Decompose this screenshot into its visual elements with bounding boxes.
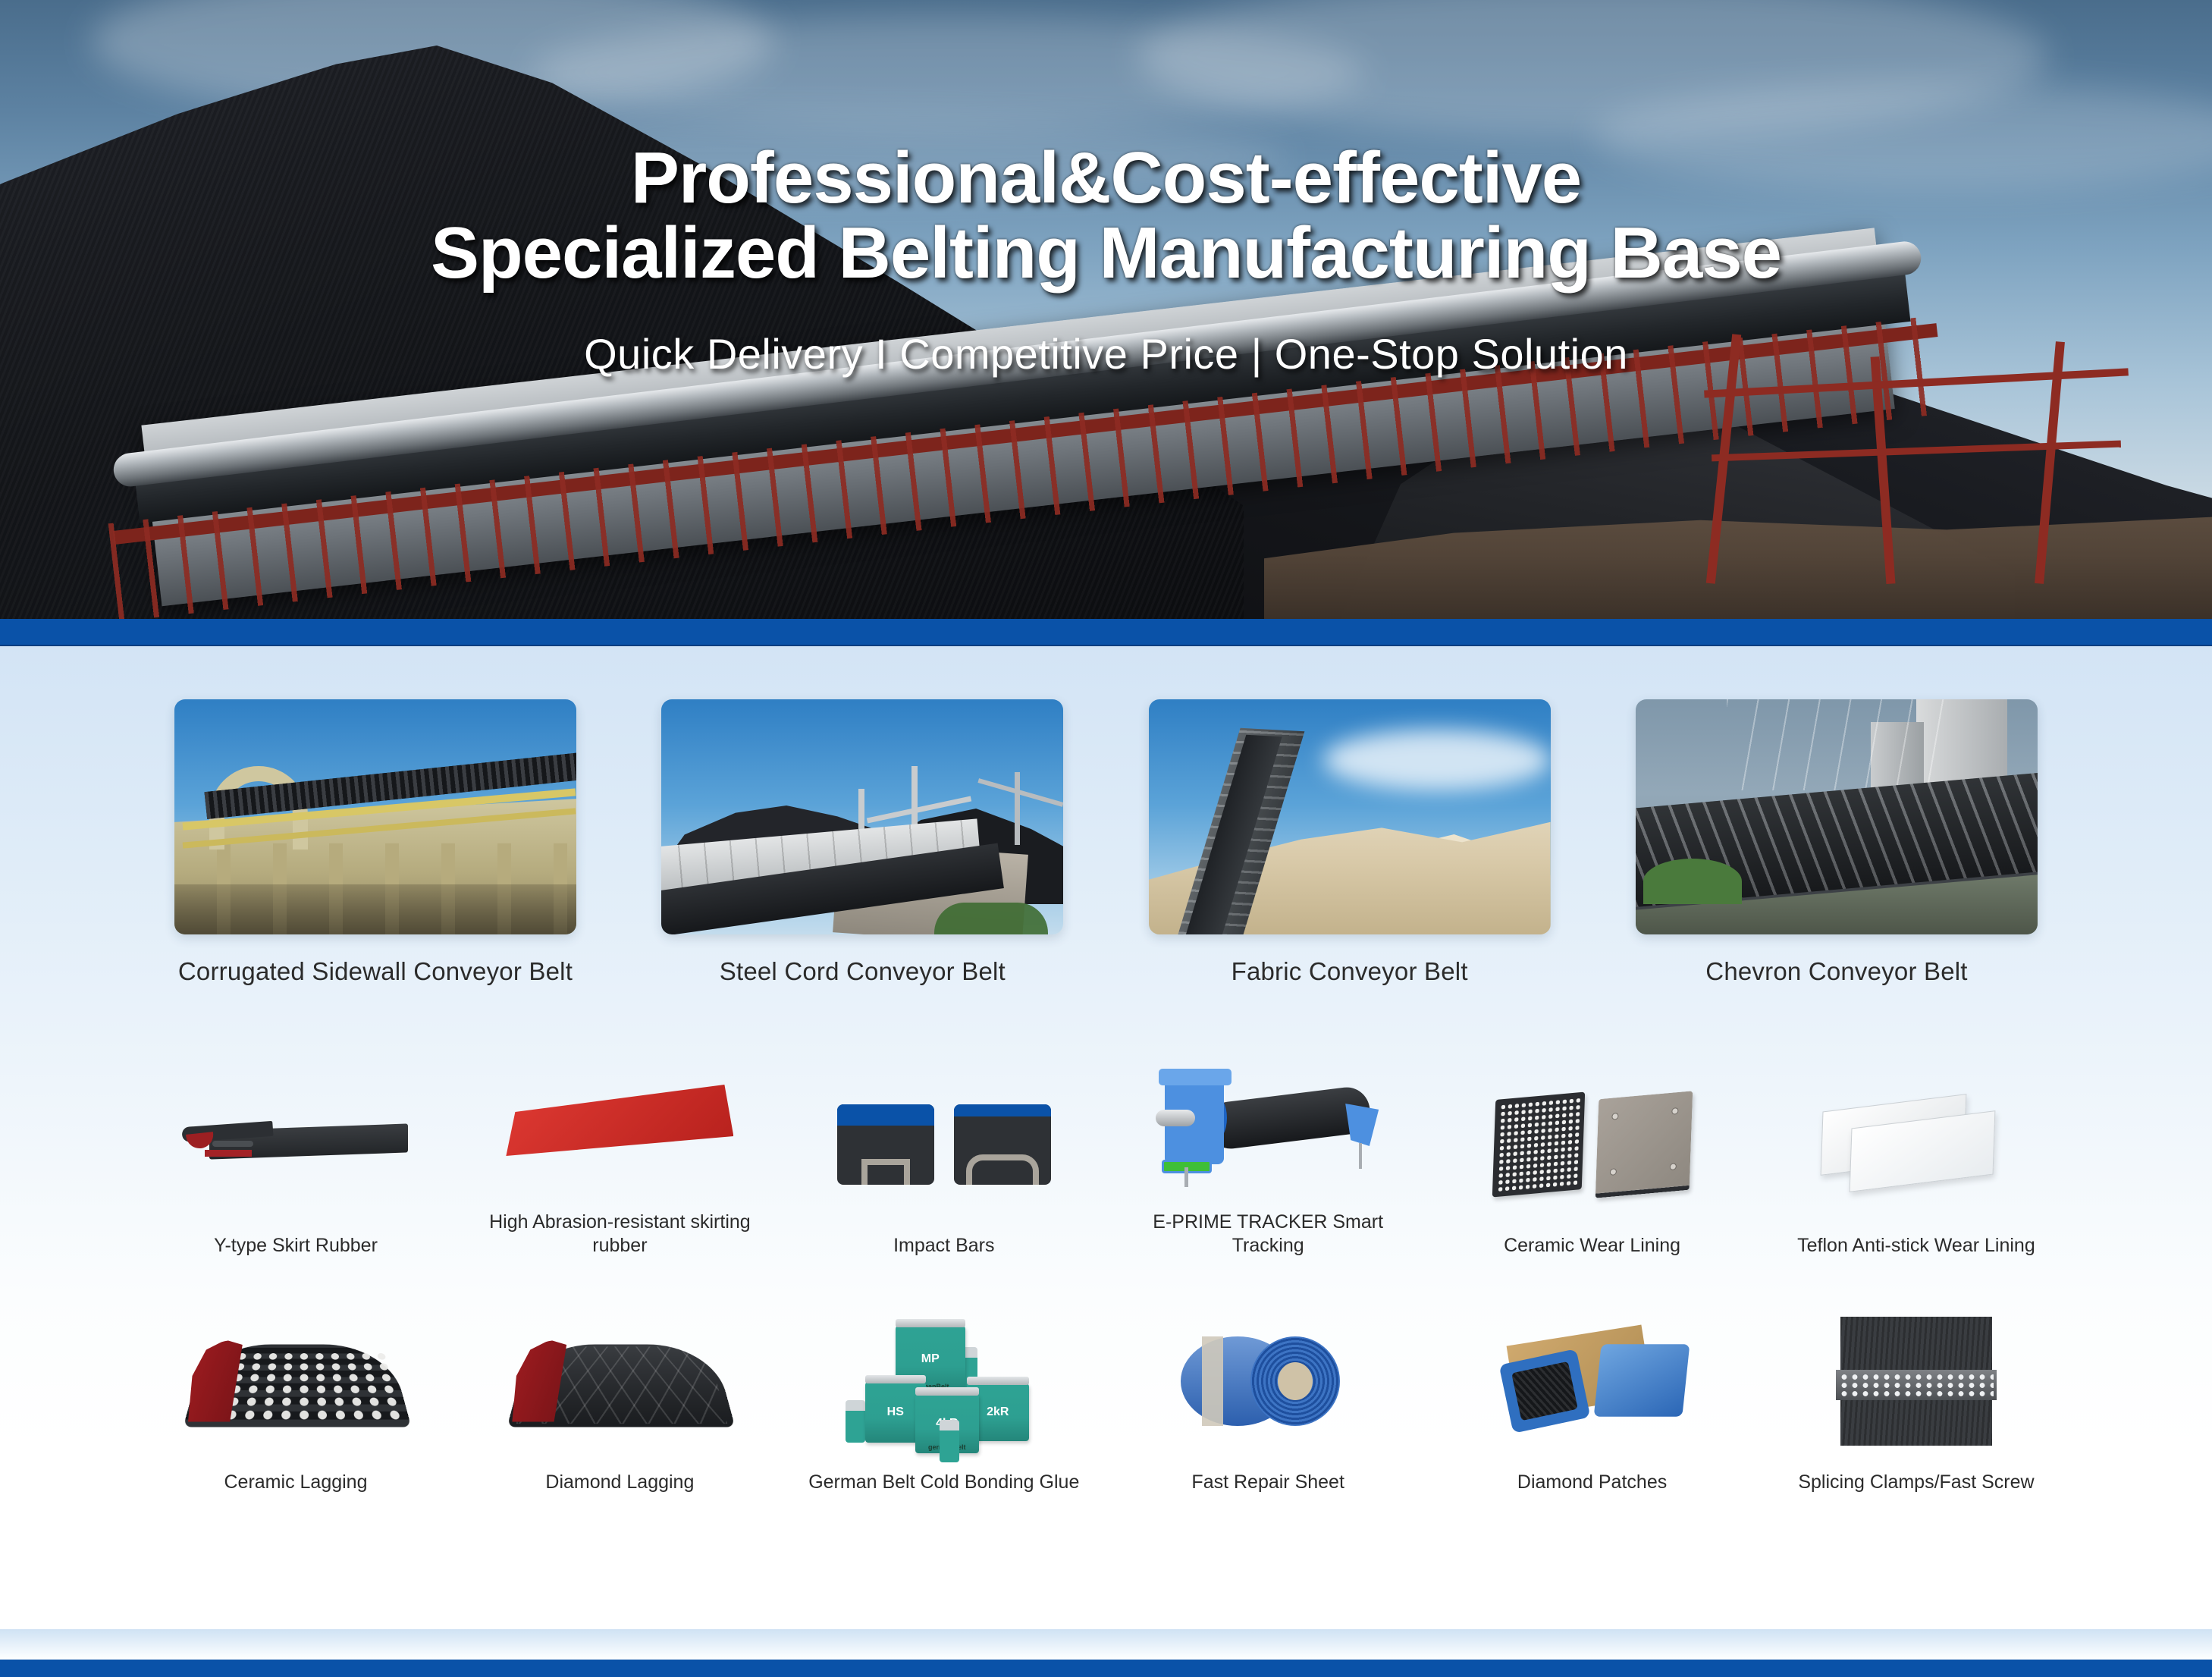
product-card[interactable]: Impact Bars <box>800 1069 1088 1258</box>
product-label: Chevron Conveyor Belt <box>1636 957 2038 986</box>
product-card[interactable]: Teflon Anti-stick Wear Lining <box>1772 1069 2060 1258</box>
product-label: Splicing Clamps/Fast Screw <box>1772 1471 2060 1494</box>
product-card[interactable]: Y-type Skirt Rubber <box>152 1069 440 1258</box>
glue-vial <box>940 1420 959 1462</box>
product-label: Teflon Anti-stick Wear Lining <box>1772 1234 2060 1258</box>
product-label: Fabric Conveyor Belt <box>1149 957 1551 986</box>
ceramic-wear-lining-plates-render[interactable] <box>1448 1069 1737 1220</box>
product-card[interactable]: Diamond Patches <box>1448 1305 1737 1494</box>
impact-bar-cross-section-render[interactable] <box>800 1069 1088 1220</box>
product-card[interactable]: Ceramic Wear Lining <box>1448 1069 1737 1258</box>
bottom-blue-bar <box>0 1660 2212 1677</box>
product-label: Diamond Patches <box>1448 1471 1737 1494</box>
footer-white-gap <box>0 1600 2212 1629</box>
hero-text-block: Professional&Cost-effective Specialized … <box>0 141 2212 378</box>
product-card[interactable]: Splicing Clamps/Fast Screw <box>1772 1305 2060 1494</box>
belt-splice-fastener-photo[interactable] <box>1772 1305 2060 1457</box>
red-skirting-rubber-render[interactable] <box>475 1045 764 1197</box>
product-label: Ceramic Wear Lining <box>1448 1234 1737 1258</box>
product-label: Y-type Skirt Rubber <box>152 1234 440 1258</box>
accessory-row-1: Y-type Skirt Rubber High Abrasion-resist… <box>0 1045 2212 1258</box>
diamond-lagging-sheet-render[interactable] <box>475 1305 764 1457</box>
accessory-row-2: Ceramic Lagging Diamond Lagging MP germa… <box>0 1305 2212 1494</box>
diamond-patch-squares-photo[interactable] <box>1448 1305 1737 1457</box>
chevron-conveyor-plant-photo[interactable] <box>1636 699 2038 934</box>
blue-repair-tape-roll-photo[interactable] <box>1124 1305 1412 1457</box>
product-label: Impact Bars <box>800 1234 1088 1258</box>
product-label: German Belt Cold Bonding Glue <box>800 1471 1088 1494</box>
belt-type-row: Corrugated Sidewall Conveyor Belt Steel … <box>0 699 2212 986</box>
steel-cord-conveyor-port-photo[interactable] <box>661 699 1063 934</box>
hero-title-line-2: Specialized Belting Manufacturing Base <box>0 216 2212 291</box>
product-card[interactable]: Chevron Conveyor Belt <box>1636 699 2038 986</box>
corrugated-sidewall-conveyor-photo[interactable] <box>174 699 576 934</box>
ceramic-lagging-sheet-render[interactable] <box>152 1305 440 1457</box>
product-label: High Abrasion-resistant skirting rubber <box>475 1211 764 1258</box>
product-card[interactable]: Ceramic Lagging <box>152 1305 440 1494</box>
product-label: Fast Repair Sheet <box>1124 1471 1412 1494</box>
product-card[interactable]: E-PRIME TRACKER Smart Tracking <box>1124 1045 1412 1258</box>
tracker-roller-bracket-render[interactable] <box>1124 1045 1412 1197</box>
y-type-skirt-rubber-render[interactable] <box>152 1069 440 1220</box>
glue-vial <box>846 1400 865 1443</box>
product-card[interactable]: Diamond Lagging <box>475 1305 764 1494</box>
fabric-conveyor-sand-photo[interactable] <box>1149 699 1551 934</box>
product-label: Steel Cord Conveyor Belt <box>661 957 1063 986</box>
product-card[interactable]: Corrugated Sidewall Conveyor Belt <box>174 699 576 986</box>
hero-title-line-1: Professional&Cost-effective <box>0 141 2212 216</box>
product-label: Ceramic Lagging <box>152 1471 440 1494</box>
hero-subtitle: Quick Delivery I Competitive Price | One… <box>0 329 2212 378</box>
product-label: Diamond Lagging <box>475 1471 764 1494</box>
product-label: Corrugated Sidewall Conveyor Belt <box>174 957 576 986</box>
teflon-white-sheets-render[interactable] <box>1772 1069 2060 1220</box>
product-card[interactable]: Fast Repair Sheet <box>1124 1305 1412 1494</box>
german-belt-glue-cans-photo[interactable]: MP germanBelt HS 2kR 4kR germanBelt <box>800 1305 1088 1457</box>
product-card[interactable]: High Abrasion-resistant skirting rubber <box>475 1045 764 1258</box>
product-label: E-PRIME TRACKER Smart Tracking <box>1124 1211 1412 1258</box>
product-card[interactable]: Steel Cord Conveyor Belt <box>661 699 1063 986</box>
product-card[interactable]: MP germanBelt HS 2kR 4kR germanBelt <box>800 1305 1088 1494</box>
top-blue-divider <box>0 619 2212 646</box>
hero-banner: Professional&Cost-effective Specialized … <box>0 0 2212 619</box>
product-catalog: Corrugated Sidewall Conveyor Belt Steel … <box>0 646 2212 1600</box>
product-card[interactable]: Fabric Conveyor Belt <box>1149 699 1551 986</box>
footer-gradient-band <box>0 1629 2212 1660</box>
